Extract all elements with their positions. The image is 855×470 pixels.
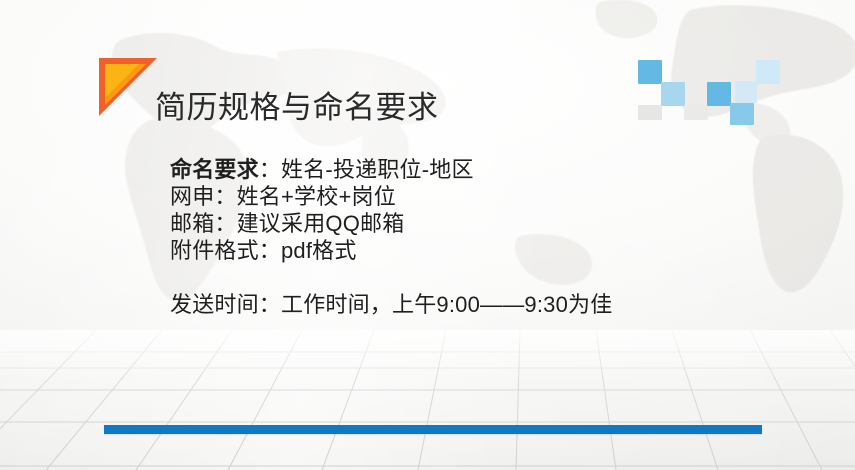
mosaic-square-2 [661, 82, 685, 106]
bottom-accent-bar [104, 425, 762, 434]
body-line-1: 命名要求：姓名-投递职位-地区 [170, 156, 790, 183]
body-line-2: 网申：姓名+学校+岗位 [170, 183, 790, 210]
mosaic-square-5 [707, 82, 731, 106]
body-text-block: 命名要求：姓名-投递职位-地区 网申：姓名+学校+岗位 邮箱：建议采用QQ邮箱 … [170, 156, 790, 318]
mosaic-square-3 [638, 105, 662, 120]
mosaic-square-7 [735, 81, 757, 103]
page-title: 简历规格与命名要求 [155, 89, 439, 127]
body-line-3: 邮箱：建议采用QQ邮箱 [170, 210, 790, 237]
blue-square-mosaic [634, 58, 764, 120]
slide-canvas: 简历规格与命名要求 命名要求：姓名-投递职位-地区 网申：姓名+学校+岗位 邮箱… [0, 0, 855, 470]
orange-triangle-logo-icon [99, 58, 157, 116]
mosaic-square-8 [756, 60, 780, 84]
perspective-floor-grid [0, 330, 855, 470]
body-line-1-rest: ：姓名-投递职位-地区 [259, 157, 474, 182]
mosaic-square-4 [684, 105, 708, 120]
body-spacer [170, 264, 790, 291]
body-line-1-lead: 命名要求 [170, 157, 259, 182]
body-line-4: 附件格式：pdf格式 [170, 237, 790, 264]
footer-note-line: 发送时间：工作时间，上午9:00——9:30为佳 [170, 291, 790, 318]
mosaic-square-1 [638, 60, 662, 84]
mosaic-square-6 [730, 103, 754, 125]
